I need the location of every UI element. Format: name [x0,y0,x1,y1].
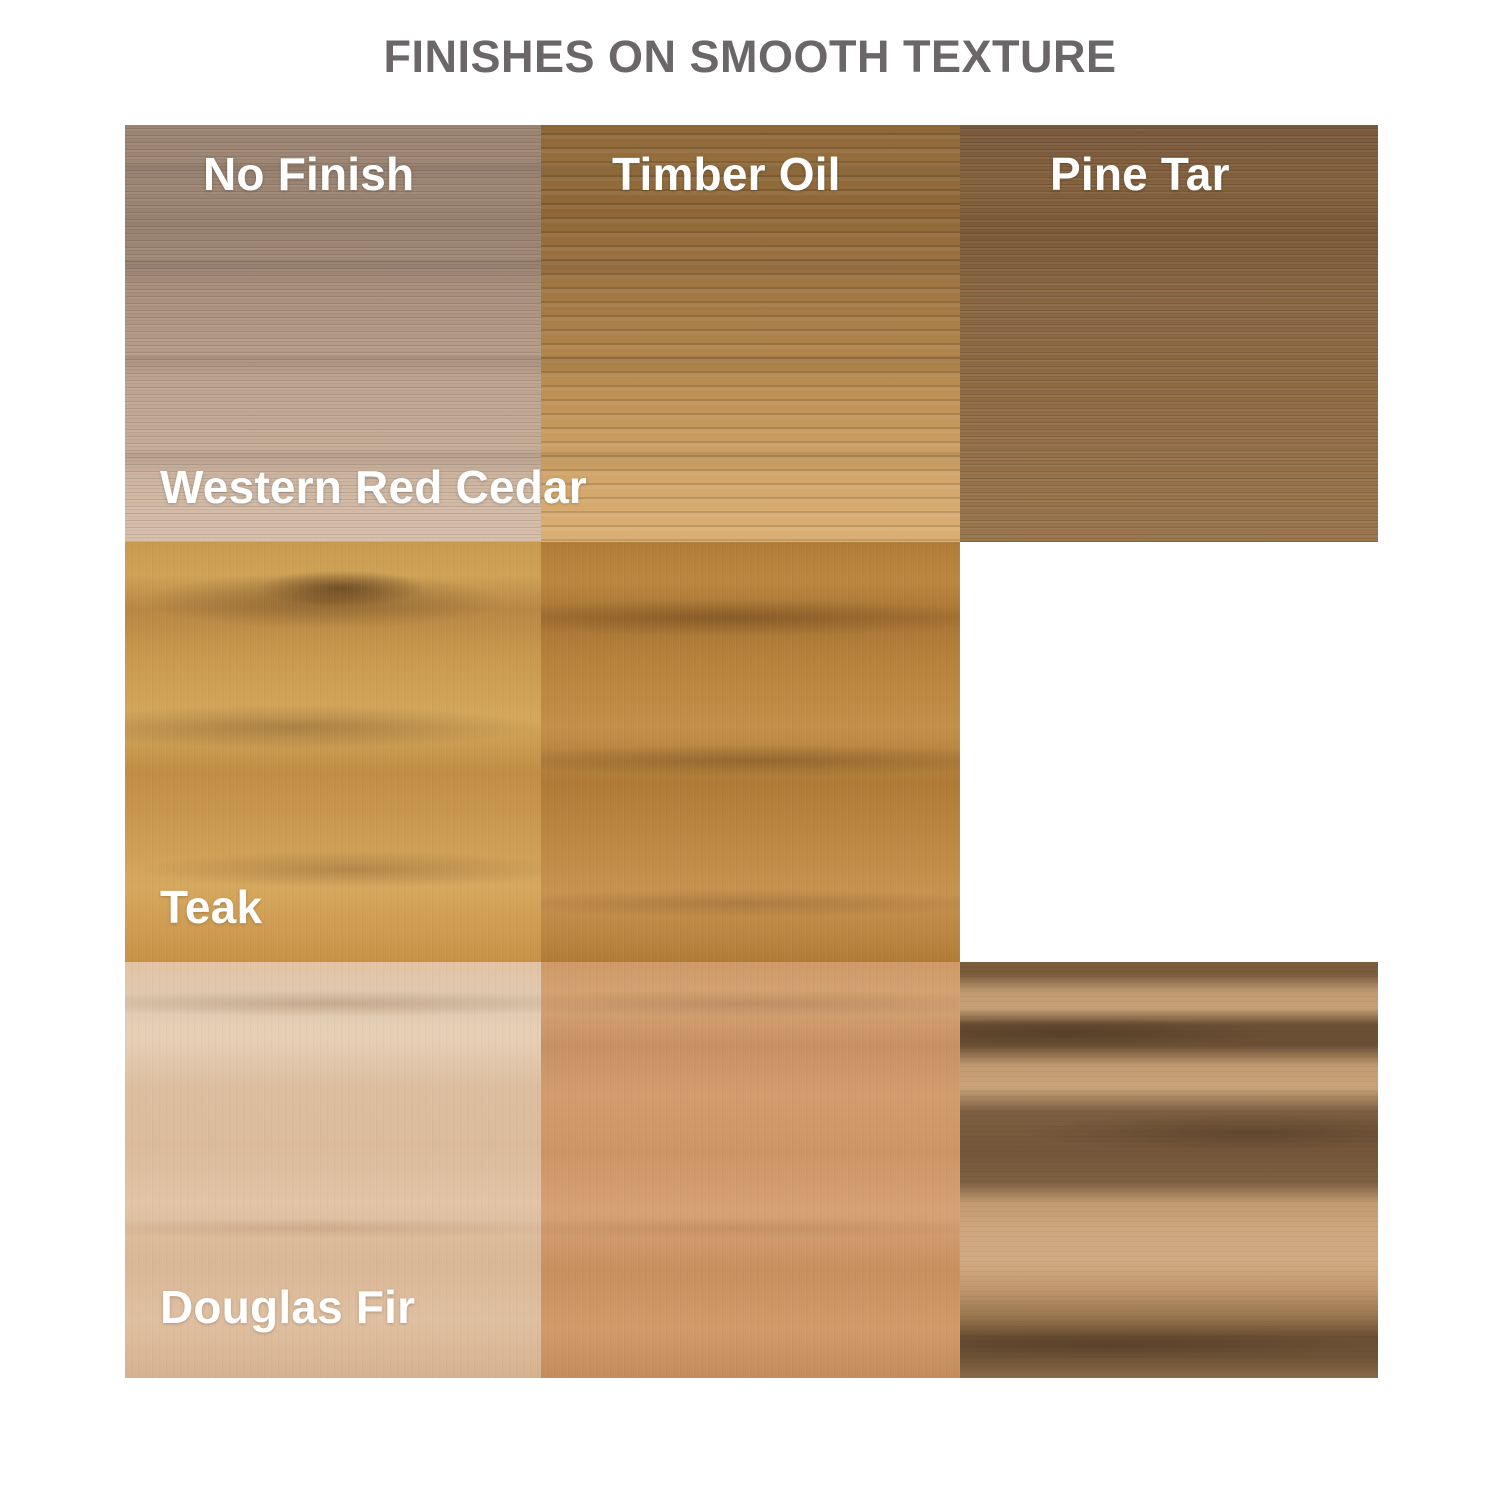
swatch-teak-pine-tar-empty [960,542,1378,962]
row-label-teak: Teak [160,880,262,934]
grain-overlay [541,962,960,1378]
swatch-grid: No Finish Timber Oil Pine Tar Western Re… [125,125,1378,1378]
column-label-no-finish: No Finish [203,147,414,201]
column-label-pine-tar: Pine Tar [1050,147,1230,201]
swatch-teak-timber-oil[interactable] [541,542,960,962]
finish-comparison-chart: FINISHES ON SMOOTH TEXTURE [0,0,1500,1500]
page-title: FINISHES ON SMOOTH TEXTURE [0,32,1500,82]
swatch-douglas-fir-pine-tar[interactable] [960,962,1378,1378]
grain-overlay [541,542,960,962]
row-label-douglas-fir: Douglas Fir [160,1280,415,1334]
row-label-western-red-cedar: Western Red Cedar [160,460,587,514]
column-label-timber-oil: Timber Oil [612,147,841,201]
swatch-douglas-fir-timber-oil[interactable] [541,962,960,1378]
grain-overlay [960,962,1378,1378]
